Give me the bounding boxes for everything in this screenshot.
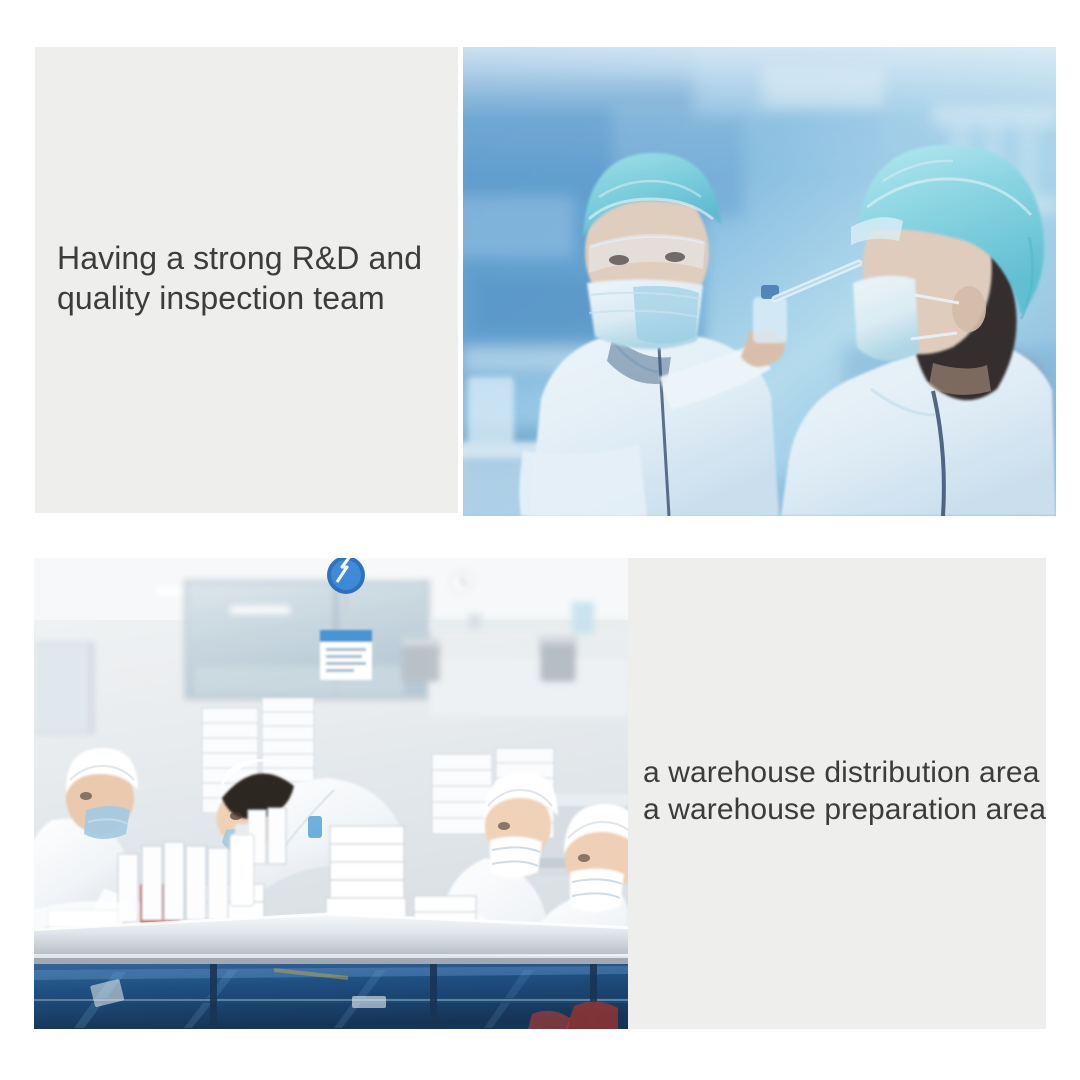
warehouse-packing-photo [34, 558, 628, 1029]
caption-rd-quality-inspection: Having a strong R&D and quality inspecti… [57, 238, 457, 318]
section-warehouse-areas: a warehouse distribution area a warehous… [0, 530, 1080, 1080]
caption-warehouse-areas: a warehouse distribution area a warehous… [643, 754, 1048, 828]
lab-technicians-photo [463, 47, 1056, 516]
section-rd-quality-inspection: Having a strong R&D and quality inspecti… [0, 0, 1080, 530]
warehouse-packing-illustration [34, 558, 628, 1029]
lab-technicians-illustration [463, 47, 1056, 516]
page-root: Having a strong R&D and quality inspecti… [0, 0, 1080, 1080]
